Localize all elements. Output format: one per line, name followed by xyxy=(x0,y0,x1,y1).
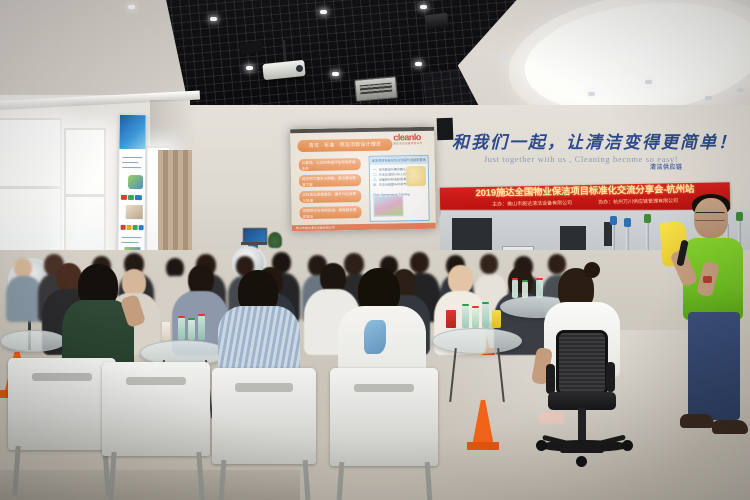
wall-slogan: 和我们一起，让清洁变得更简单！ Just together with us , … xyxy=(452,128,710,164)
slide-panel-title: 保洁项目标准化作业流程与设备配置表 xyxy=(370,156,428,165)
chair-caster xyxy=(576,456,587,467)
person-head xyxy=(448,265,473,294)
slide-header: 清洁 · 标准 · 保洁项目设计理念 xyxy=(297,138,392,152)
spotlight xyxy=(672,8,679,12)
hair-bun xyxy=(584,262,600,278)
glasses-icon xyxy=(695,212,725,221)
logo-subtext: 施达清洁设备有限公司 xyxy=(393,142,429,146)
slide-diagram xyxy=(406,166,426,186)
chair-caster xyxy=(536,440,547,451)
wall-poster xyxy=(117,114,147,266)
mop-head xyxy=(736,212,743,221)
spotlight xyxy=(320,10,327,14)
spotlight xyxy=(500,55,507,59)
spotlight xyxy=(246,66,253,70)
water-bottle xyxy=(536,280,543,298)
chair-spoke xyxy=(560,448,604,453)
wristwatch xyxy=(703,276,712,283)
water-bottle xyxy=(482,304,489,328)
spotlight xyxy=(420,5,427,9)
water-bottle xyxy=(198,316,205,340)
mop-head xyxy=(644,214,651,223)
round-glass-table xyxy=(432,328,522,354)
slide-logo: cleanlo 施达清洁设备有限公司 xyxy=(393,133,429,147)
slide-bullet: 定期回访与持续改进，保障服务稳定输出 xyxy=(299,206,361,219)
office-chair-armrest xyxy=(546,364,555,394)
poster-header xyxy=(119,115,145,149)
window-mullion xyxy=(64,194,104,197)
spotlight xyxy=(415,62,422,66)
water-bottle xyxy=(178,318,185,340)
product-box xyxy=(446,310,456,328)
wall-watermark: 清洁供应链 xyxy=(650,162,683,171)
water-bottle xyxy=(512,280,518,298)
folding-chair xyxy=(102,362,210,456)
presenter-pants xyxy=(688,312,740,420)
wall-slogan-chinese: 和我们一起，让清洁变得更简单！ xyxy=(452,128,710,153)
water-bottle xyxy=(188,320,195,340)
slide-bullet: 结合甲方需求与预算，提出最优配置方案 xyxy=(299,174,361,187)
projector-lens xyxy=(296,65,303,72)
chair-caster xyxy=(622,440,633,451)
spotlight xyxy=(705,96,712,100)
office-chair-armrest xyxy=(606,362,615,392)
spotlight xyxy=(737,88,744,92)
water-bottle xyxy=(462,306,469,328)
potted-plant xyxy=(268,232,282,248)
banner-organizer: 主办：佛山市施达清洁设备有限公司 xyxy=(492,199,572,209)
presenter-shoe xyxy=(680,414,714,428)
folding-chair xyxy=(212,368,316,464)
slide-content-panel: 保洁项目标准化作业流程与设备配置表 一、现场勘查与需求确认 二、作业区域划分与人… xyxy=(369,155,430,222)
wall-dark-panel xyxy=(437,118,454,141)
spotlight xyxy=(210,17,217,21)
round-glass-table xyxy=(0,330,66,352)
person-shoe xyxy=(538,412,564,424)
presenter-shoe xyxy=(712,420,748,434)
spotlight xyxy=(332,72,339,76)
office-chair-back xyxy=(556,330,608,396)
slide-photo xyxy=(373,195,403,217)
ceiling-speaker-icon xyxy=(425,13,449,30)
window-mullion xyxy=(0,186,60,189)
water-bottle xyxy=(522,282,528,298)
air-conditioner-vent-icon xyxy=(354,76,398,102)
mop-head xyxy=(624,218,631,227)
poster-image xyxy=(128,175,143,189)
water-bottle xyxy=(472,308,479,328)
slide-bullet: 以客观、公正的角度评估现场环境条件 xyxy=(299,158,361,171)
slide-bullet: 以标准化流程指导，提升作业效率与质量 xyxy=(299,190,361,203)
banner-coorganizer: 协办：杭州万川供应链管理有限公司 xyxy=(598,197,678,207)
projection-screen: 清洁 · 标准 · 保洁项目设计理念 cleanlo 施达清洁设备有限公司 以客… xyxy=(290,127,436,231)
paper-cup xyxy=(162,322,170,340)
spotlight xyxy=(588,92,595,96)
spotlight xyxy=(645,80,652,84)
spotlight xyxy=(128,5,135,9)
mop-head xyxy=(610,216,617,225)
folding-chair xyxy=(8,358,116,450)
folding-chair xyxy=(330,368,438,466)
conference-room-photo: 清洁 · 标准 · 保洁项目设计理念 cleanlo 施达清洁设备有限公司 以客… xyxy=(0,0,750,500)
poster-image-2 xyxy=(126,205,143,219)
shirt-print xyxy=(364,320,386,354)
beverage-can xyxy=(492,310,501,328)
floor-band xyxy=(0,470,300,500)
traffic-cone-base xyxy=(467,442,499,450)
